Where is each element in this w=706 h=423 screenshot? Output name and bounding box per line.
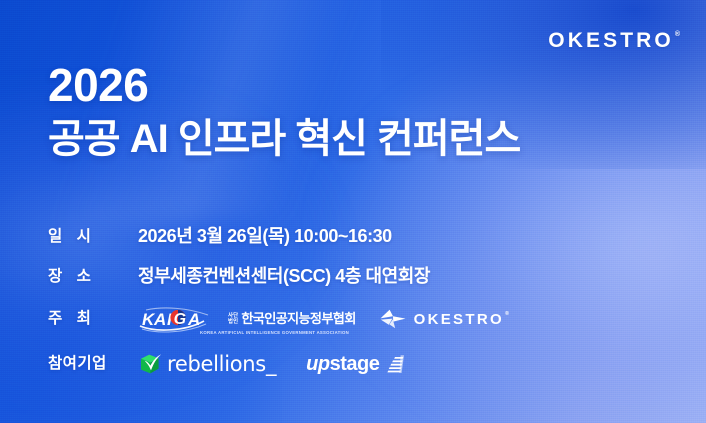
rebellions-wordmark: rebellions_ bbox=[167, 354, 276, 375]
detail-row-organizer: 주 최 bbox=[48, 302, 668, 336]
kaiga-symbol-icon: K A I G A bbox=[138, 305, 224, 333]
okestro-wordmark: OKESTRO ® bbox=[414, 312, 509, 327]
rebellions-logo: rebellions_ bbox=[138, 352, 276, 376]
upstage-logo: upstage bbox=[306, 354, 406, 374]
kaiga-badge-line2: 법인 bbox=[228, 319, 238, 325]
registered-trademark-icon: ® bbox=[675, 31, 680, 38]
detail-label-participants: 참여기업 bbox=[48, 356, 138, 372]
kaiga-logo: K A I G A bbox=[138, 304, 356, 334]
detail-value-date: 2026년 3월 26일(목) 10:00~16:30 bbox=[138, 226, 392, 248]
detail-value-venue: 정부세종컨벤션센터(SCC) 4층 대연회장 bbox=[138, 266, 430, 288]
kaiga-english-name: KOREA ARTIFICIAL INTELLIGENCE GOVERNMENT… bbox=[200, 330, 349, 335]
okestro-brand-top-wordmark: OKESTRO bbox=[548, 30, 674, 51]
headline-block: 2026 공공 AI 인프라 혁신 컨퍼런스 bbox=[48, 62, 520, 163]
kaiga-corporate-badge: 사단 법인 bbox=[228, 313, 238, 326]
detail-row-participants: 참여기업 rebellions_ bbox=[48, 347, 668, 381]
okestro-brand-top: OKESTRO ® bbox=[548, 30, 680, 51]
conference-banner: OKESTRO ® 2026 공공 AI 인프라 혁신 컨퍼런스 일 시 202… bbox=[0, 0, 706, 423]
upstage-wordmark: upstage bbox=[306, 354, 379, 374]
okestro-symbol-icon bbox=[380, 309, 406, 329]
detail-label-date: 일 시 bbox=[48, 229, 138, 245]
event-year: 2026 bbox=[48, 62, 520, 109]
banner-content: OKESTRO ® 2026 공공 AI 인프라 혁신 컨퍼런스 일 시 202… bbox=[0, 0, 706, 423]
rebellions-cube-icon bbox=[138, 352, 162, 376]
detail-row-venue: 장 소 정부세종컨벤션센터(SCC) 4층 대연회장 bbox=[48, 262, 668, 291]
detail-label-venue: 장 소 bbox=[48, 269, 138, 285]
detail-label-organizer: 주 최 bbox=[48, 311, 138, 327]
svg-text:G: G bbox=[174, 311, 186, 328]
organizer-logos: K A I G A bbox=[138, 304, 509, 334]
event-details: 일 시 2026년 3월 26일(목) 10:00~16:30 장 소 정부세종… bbox=[48, 222, 668, 381]
registered-trademark-icon: ® bbox=[505, 312, 509, 318]
detail-row-date: 일 시 2026년 3월 26일(목) 10:00~16:30 bbox=[48, 222, 668, 251]
upstage-wordmark-italic: up bbox=[306, 353, 329, 375]
upstage-wordmark-rest: stage bbox=[330, 353, 380, 375]
kaiga-korean-name: 한국인공지능정부협회 bbox=[241, 312, 355, 325]
event-title: 공공 AI 인프라 혁신 컨퍼런스 bbox=[48, 117, 520, 163]
participant-logos: rebellions_ upstage bbox=[138, 352, 406, 376]
okestro-logo: OKESTRO ® bbox=[380, 309, 509, 329]
upstage-lines-icon bbox=[384, 354, 406, 374]
svg-text:A: A bbox=[187, 310, 200, 329]
okestro-wordmark-text: OKESTRO bbox=[414, 312, 504, 327]
svg-text:A: A bbox=[153, 310, 166, 329]
